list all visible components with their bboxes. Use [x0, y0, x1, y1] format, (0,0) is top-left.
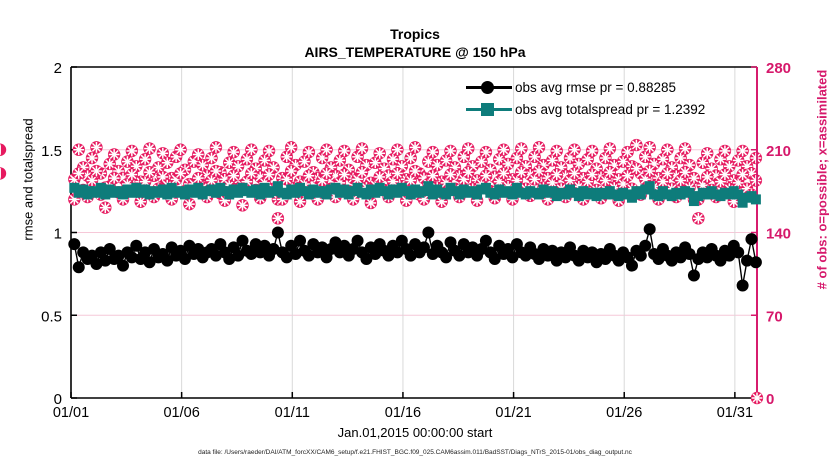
svg-text:01/06: 01/06: [163, 405, 199, 421]
plot-area: 00.511.5207014021028001/0101/0601/1101/1…: [0, 0, 830, 470]
data-file-path: data file: /Users/raeder/DAI/ATM_forcXX/…: [0, 449, 830, 456]
legend-label: obs avg rmse pr = 0.88285: [515, 80, 676, 95]
svg-text:01/21: 01/21: [495, 405, 531, 421]
legend-label: obs avg totalspread pr = 1.2392: [515, 102, 705, 117]
svg-text:140: 140: [766, 226, 791, 243]
legend-item: obs avg rmse pr = 0.88285: [466, 76, 705, 98]
svg-text:0.5: 0.5: [41, 308, 62, 325]
svg-text:1.5: 1.5: [41, 143, 62, 160]
svg-text:280: 280: [766, 60, 791, 77]
svg-text:0: 0: [766, 391, 774, 408]
svg-text:210: 210: [766, 143, 791, 160]
svg-text:01/01: 01/01: [53, 405, 89, 421]
legend-circle-icon: [466, 78, 512, 96]
svg-text:70: 70: [766, 308, 783, 325]
legend: obs avg rmse pr = 0.88285obs avg totalsp…: [466, 76, 705, 120]
y-axis-label-left: rmse and totalspread: [21, 30, 36, 330]
y-axis-label-right: # of obs: o=possible; x=assimilated: [815, 30, 830, 330]
chart-canvas: Tropics AIRS_TEMPERATURE @ 150 hPa 00.51…: [0, 0, 830, 470]
x-axis-label: Jan.01,2015 00:00:00 start: [0, 425, 830, 440]
svg-text:1: 1: [54, 226, 62, 243]
legend-item: obs avg totalspread pr = 1.2392: [466, 98, 705, 120]
svg-text:01/16: 01/16: [385, 405, 421, 421]
svg-text:01/11: 01/11: [275, 405, 310, 421]
svg-text:01/26: 01/26: [606, 405, 642, 421]
legend-square-icon: [466, 100, 512, 118]
series-rmse: [68, 223, 762, 291]
svg-text:2: 2: [54, 60, 62, 77]
svg-text:01/31: 01/31: [717, 405, 753, 421]
